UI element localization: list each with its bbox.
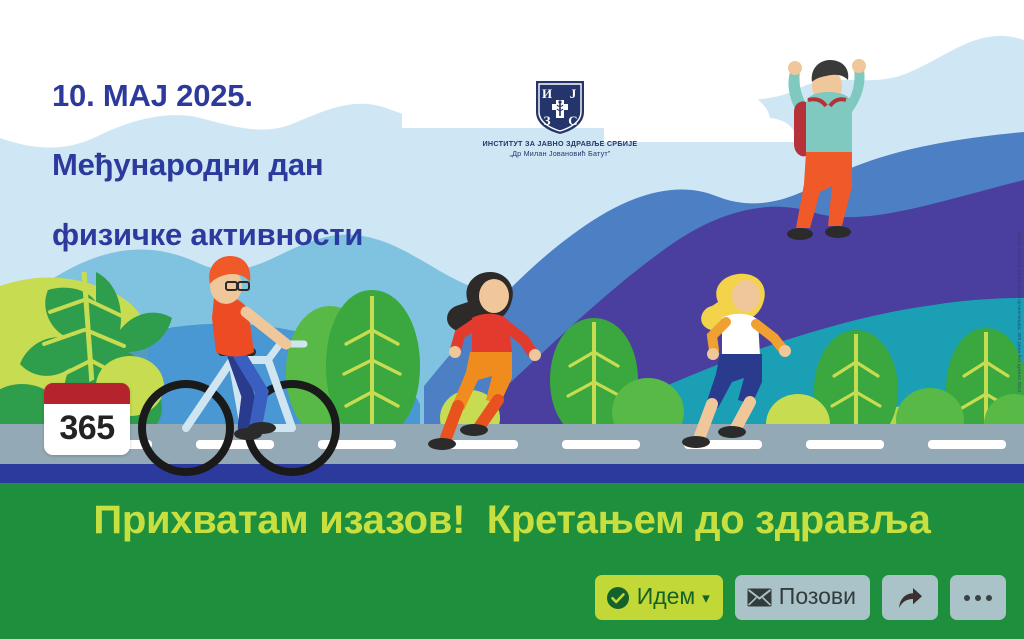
call-button[interactable]: Позови <box>735 575 870 620</box>
calendar-top-band <box>44 383 130 404</box>
headline-line-2: Међународни дан <box>52 148 482 183</box>
going-button-label: Идем <box>637 585 696 608</box>
institute-name-line-1: ИНСТИТУТ ЗА ЈАВНО ЗДРАВЉЕ СРБИЈЕ <box>470 139 650 148</box>
share-button[interactable] <box>882 575 938 620</box>
call-button-label: Позови <box>779 585 856 608</box>
credit-text: Извор: Светска здравствена организација,… <box>1017 232 1022 394</box>
calendar-365-badge: 365 <box>44 383 130 455</box>
svg-text:И: И <box>542 86 552 101</box>
svg-text:J: J <box>570 86 577 101</box>
institute-logo: И J З С ИНСТИТУТ ЗА ЈАВНО ЗДРАВЉЕ СРБИЈЕ… <box>470 78 650 158</box>
more-options-button[interactable] <box>950 575 1006 620</box>
ellipsis-icon <box>964 595 992 601</box>
institute-name-line-2: „Др Милан Јовановић Батут” <box>470 149 650 158</box>
calendar-number: 365 <box>44 404 130 455</box>
headline-line-3: физичке активности <box>52 218 482 253</box>
envelope-icon <box>747 588 772 607</box>
banner-top-rule <box>0 480 1024 483</box>
check-circle-icon <box>606 586 630 610</box>
going-button[interactable]: Идем ▾ <box>595 575 723 620</box>
bottom-banner: Прихватам изазов! Кретањем до здравља Ид… <box>0 480 1024 639</box>
poster-root: 10. MAJ 2025. Међународни дан физичке ак… <box>0 0 1024 639</box>
page-title: 10. MAJ 2025. Међународни дан физичке ак… <box>52 44 482 287</box>
action-button-bar: Идем ▾ Позови <box>595 575 1006 620</box>
caduceus-cross-shield-icon: И J З С <box>532 78 588 136</box>
headline-line-1: 10. MAJ 2025. <box>52 79 482 114</box>
share-arrow-icon <box>896 585 924 611</box>
chevron-down-icon: ▾ <box>702 591 710 606</box>
slogan-text: Прихватам изазов! Кретањем до здравља <box>0 498 1024 543</box>
svg-text:З: З <box>544 113 551 128</box>
svg-text:С: С <box>568 113 577 128</box>
